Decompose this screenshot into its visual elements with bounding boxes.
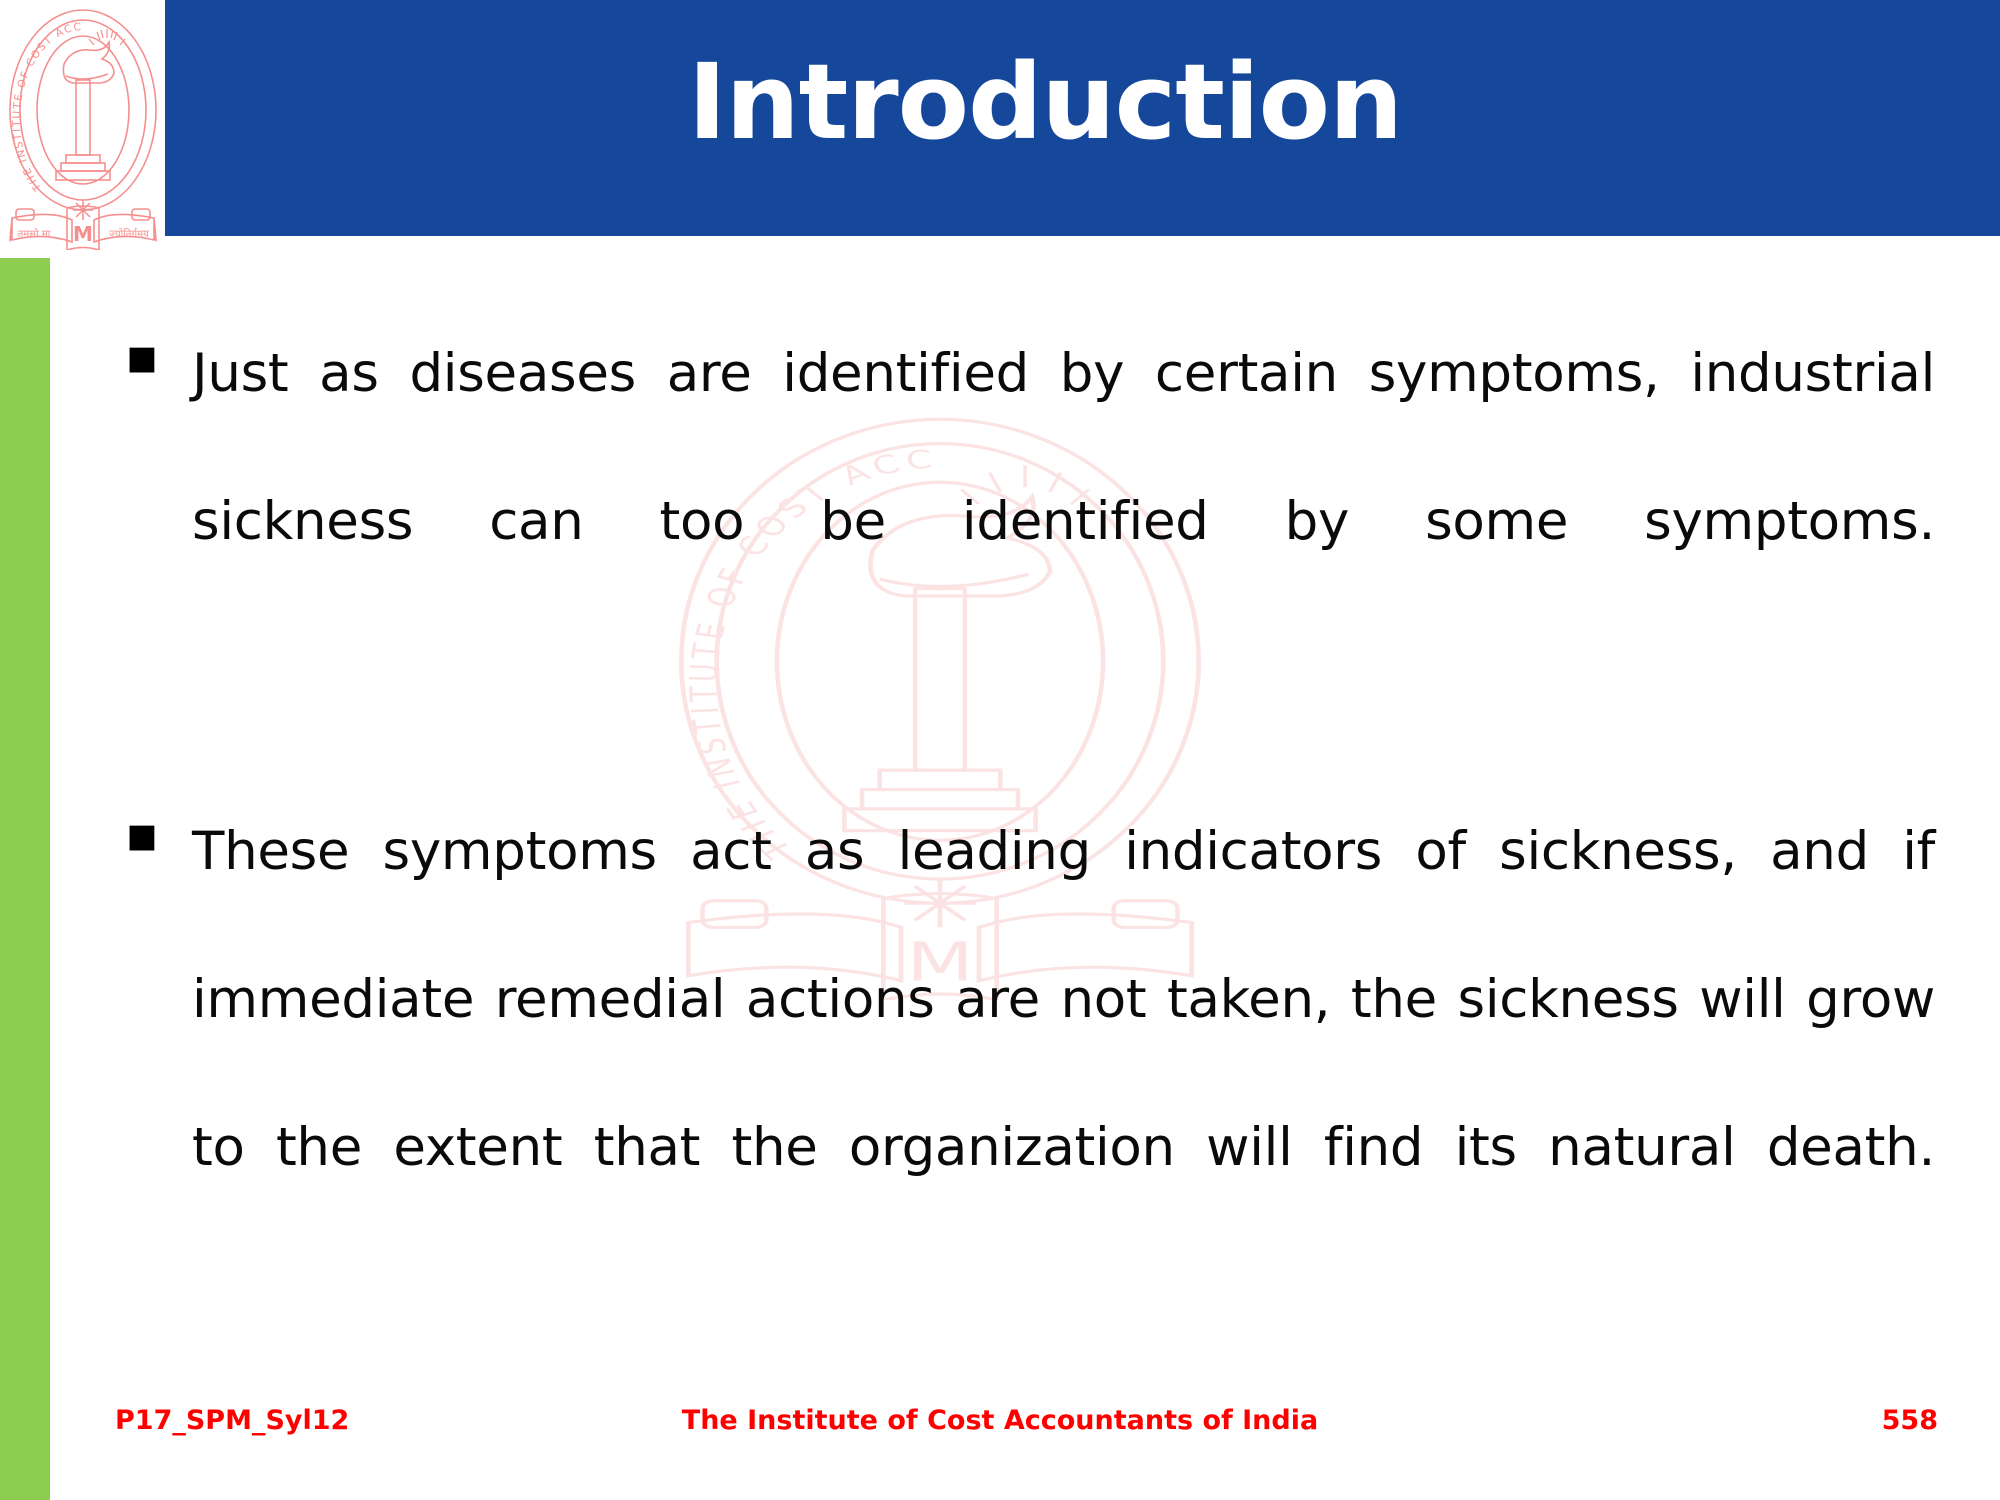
bullet-text: Just as diseases are identified by certa…: [192, 300, 1935, 744]
list-item: ▪ Just as diseases are identified by cer…: [120, 300, 1935, 744]
slide-body: ▪ Just as diseases are identified by cer…: [120, 300, 1935, 1404]
list-item: ▪ These symptoms act as leading indicato…: [120, 778, 1935, 1370]
footer-institute-name: The Institute of Cost Accountants of Ind…: [0, 1405, 2000, 1436]
left-accent-bar: [0, 258, 50, 1500]
footer-page-number: 558: [1882, 1405, 1938, 1436]
bullet-square-icon: ▪: [120, 778, 192, 890]
bullet-text: These symptoms act as leading indicators…: [192, 778, 1935, 1370]
svg-text:THE INSTITUTE OF COST ACCOUNTA: THE INSTITUTE OF COST ACCOUNTANTS OF IND…: [4, 2, 83, 194]
bullet-square-icon: ▪: [120, 300, 192, 412]
slide-footer: P17_SPM_Syl12 The Institute of Cost Acco…: [0, 1405, 2000, 1465]
institute-logo-icon: M THE INSTITUTE OF COST ACCOUNTANTS OF I…: [4, 2, 162, 250]
page-title: Introduction: [165, 32, 1925, 172]
svg-text:तमसो मा: तमसो मा: [18, 228, 51, 240]
svg-text:ज्योतिर्गमय: ज्योतिर्गमय: [109, 228, 149, 240]
logo-monogram: M: [73, 222, 93, 246]
